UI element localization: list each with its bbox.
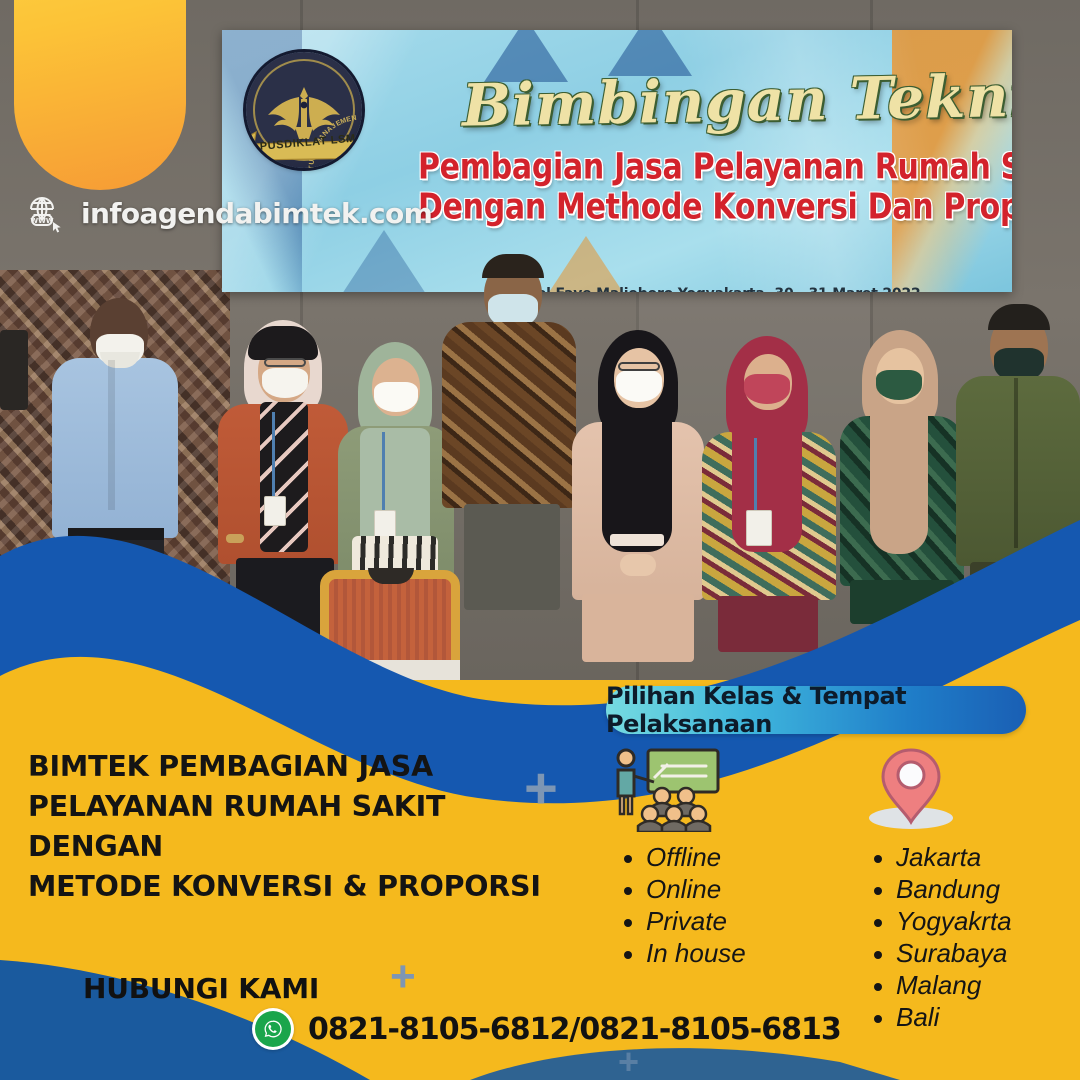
plus-icon: +: [390, 955, 416, 999]
globe-www-icon: WWW: [26, 192, 68, 234]
whatsapp-glyph: [262, 1018, 284, 1040]
options-pill-label: Pilihan Kelas & Tempat Pelaksanaan: [606, 682, 1026, 738]
poster: LEMBAGA STUDI MANAJEMEN AKUNTANSI DAN PE…: [0, 0, 1080, 1080]
list-item: Surabaya: [896, 938, 1076, 969]
page-title: BIMTEK PEMBAGIAN JASA PELAYANAN RUMAH SA…: [28, 747, 558, 907]
classes-column: OfflineOnlinePrivateIn house: [606, 740, 856, 1034]
list-item: In house: [646, 938, 856, 969]
list-item: Online: [646, 874, 856, 905]
headline-line3: METODE KONVERSI & PROPORSI: [28, 867, 558, 907]
list-item: Jakarta: [896, 842, 1076, 873]
contact-label: HUBUNGI KAMI: [83, 972, 319, 1005]
training-classroom-icon: [606, 740, 856, 832]
list-item: Private: [646, 906, 856, 937]
options-pill: Pilihan Kelas & Tempat Pelaksanaan: [606, 686, 1026, 734]
locations-column: JakartaBandungYogyakrtaSurabayaMalangBal…: [856, 740, 1076, 1034]
watermark-text: infoagendabimtek.com: [81, 197, 432, 230]
classes-list: OfflineOnlinePrivateIn house: [606, 842, 856, 969]
watermark: WWW infoagendabimtek.com: [26, 192, 432, 234]
map-pin-icon: [856, 740, 1076, 832]
whatsapp-icon[interactable]: [252, 1008, 294, 1050]
list-item: Offline: [646, 842, 856, 873]
headline-line2: PELAYANAN RUMAH SAKIT DENGAN: [28, 787, 558, 867]
locations-list: JakartaBandungYogyakrtaSurabayaMalangBal…: [856, 842, 1076, 1033]
headline-line1: BIMTEK PEMBAGIAN JASA: [28, 747, 558, 787]
options-columns: OfflineOnlinePrivateIn house JakartaBand…: [606, 740, 1076, 1034]
list-item: Bali: [896, 1002, 1076, 1033]
svg-text:WWW: WWW: [30, 217, 53, 225]
list-item: Malang: [896, 970, 1076, 1001]
list-item: Bandung: [896, 874, 1076, 905]
list-item: Yogyakrta: [896, 906, 1076, 937]
